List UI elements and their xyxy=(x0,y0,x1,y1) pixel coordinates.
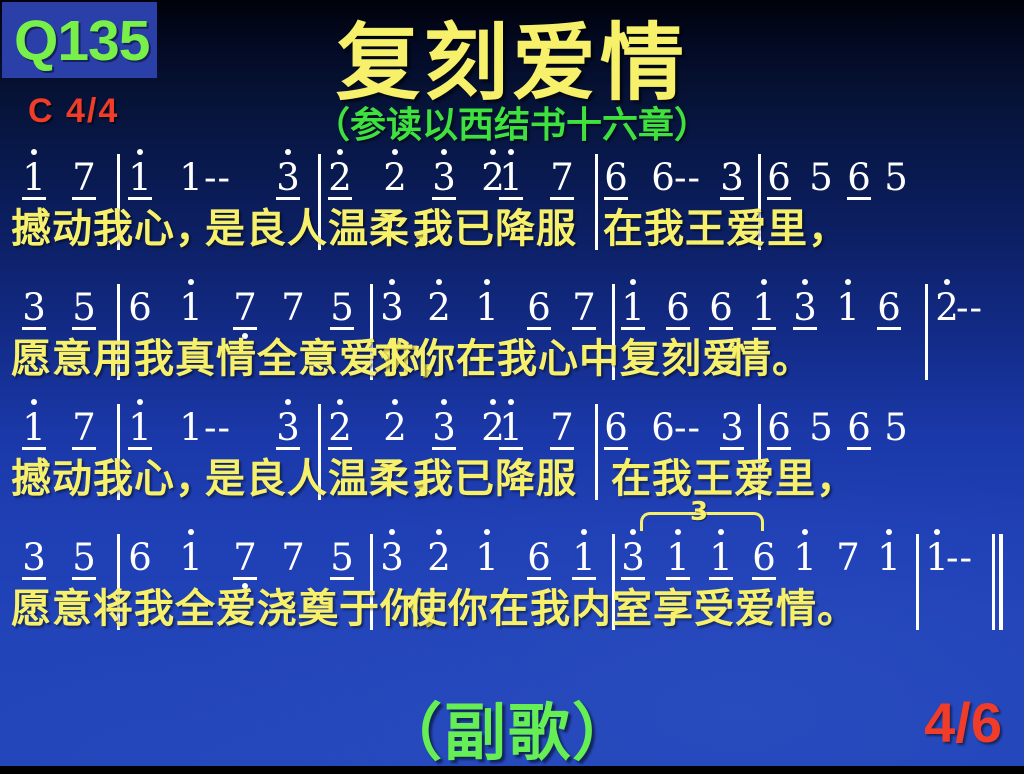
jianpu-note: 1 xyxy=(665,538,691,578)
jianpu-note: 7 xyxy=(549,408,575,448)
jianpu-note: 6 xyxy=(603,158,629,198)
jianpu-note: 5 xyxy=(883,408,909,448)
lyric-row: 愿意用我真情全意爱你,求你在我心中复刻爱情。 xyxy=(0,326,1024,382)
jianpu-note: 6 xyxy=(876,288,902,328)
jianpu-note: 1 xyxy=(751,288,777,328)
jianpu-note: 6 xyxy=(751,538,777,578)
jianpu-note: 7 xyxy=(571,288,597,328)
jianpu-note: 6 xyxy=(526,538,552,578)
jianpu-note: 1 xyxy=(498,408,524,448)
jianpu-note: 5 xyxy=(808,408,834,448)
lyric-segment: 撼动我心， xyxy=(11,446,216,504)
jianpu-note: 7 xyxy=(549,158,575,198)
jianpu-note: 3 xyxy=(379,288,405,328)
jianpu-note: 1 xyxy=(876,538,902,578)
jianpu-note: 6 xyxy=(127,538,153,578)
jianpu-note: 1 xyxy=(474,288,500,328)
note-sustain-dash: -- xyxy=(956,288,983,328)
song-slide: Q135 C 4/4 复刻爱情 （参读以西结书十六章） 1711--322321… xyxy=(0,0,1024,774)
jianpu-note: 2 xyxy=(382,408,408,448)
note-sustain-dash: -- xyxy=(204,158,231,198)
triplet-number: 3 xyxy=(684,497,714,527)
jianpu-note: 7 xyxy=(71,158,97,198)
jianpu-note: 7 xyxy=(280,538,306,578)
jianpu-note: 2 xyxy=(382,158,408,198)
lyric-segment: 情。 xyxy=(731,326,813,384)
note-sustain-dash: -- xyxy=(674,158,701,198)
lyric-row: 撼动我心，是良人温柔，我已降服在我王爱里， xyxy=(0,446,1024,502)
jianpu-note: 5 xyxy=(329,288,355,328)
jianpu-note: 3 xyxy=(431,158,457,198)
jianpu-note: 6 xyxy=(766,158,792,198)
jianpu-note: 3 xyxy=(21,288,47,328)
note-sustain-dash: -- xyxy=(204,408,231,448)
jianpu-note: 6 xyxy=(603,408,629,448)
lyric-segment: 我已降服 xyxy=(413,446,577,504)
jianpu-note: 3 xyxy=(620,538,646,578)
jianpu-note: 5 xyxy=(71,538,97,578)
jianpu-note: 1 xyxy=(474,538,500,578)
jianpu-note: 6 xyxy=(846,408,872,448)
jianpu-note: 1 xyxy=(792,538,818,578)
lyric-segment: 撼动我心， xyxy=(11,196,216,254)
jianpu-note: 1 xyxy=(571,538,597,578)
jianpu-note: 5 xyxy=(808,158,834,198)
jianpu-note: 6 xyxy=(127,288,153,328)
jianpu-note: 2 xyxy=(426,538,452,578)
lyric-segment: 在我王爱里， xyxy=(603,196,849,254)
jianpu-note: 1 xyxy=(620,288,646,328)
lyric-line: 撼动我心，是良人温柔，我已降服在我王爱里， xyxy=(0,196,1024,252)
lyric-segment: 在我王爱里， xyxy=(611,446,857,504)
lyric-line: 撼动我心，是良人温柔，我已降服在我王爱里， xyxy=(0,446,1024,502)
jianpu-note: 3 xyxy=(21,538,47,578)
jianpu-note: 5 xyxy=(71,288,97,328)
jianpu-note: 1 xyxy=(178,158,204,198)
jianpu-note: 7 xyxy=(71,408,97,448)
note-sustain-dash: -- xyxy=(674,408,701,448)
note-sustain-dash: -- xyxy=(946,538,973,578)
lyric-segment: 我已降服 xyxy=(413,196,577,254)
jianpu-note: 3 xyxy=(275,408,301,448)
lyric-line: 愿意用我真情全意爱你,求你在我心中复刻爱情。 xyxy=(0,326,1024,382)
jianpu-note: 6 xyxy=(665,288,691,328)
jianpu-note: 1 xyxy=(498,158,524,198)
jianpu-note: 7 xyxy=(232,288,258,328)
jianpu-note: 1 xyxy=(127,408,153,448)
jianpu-note: 3 xyxy=(719,158,745,198)
jianpu-note: 3 xyxy=(379,538,405,578)
jianpu-note: 6 xyxy=(708,288,734,328)
jianpu-note: 1 xyxy=(178,288,204,328)
jianpu-note: 3 xyxy=(719,408,745,448)
jianpu-note: 1 xyxy=(127,158,153,198)
jianpu-note: 1 xyxy=(178,538,204,578)
lyric-segment: 求你在我心中复刻爱 xyxy=(374,326,743,384)
jianpu-note: 1 xyxy=(21,158,47,198)
bottom-bar xyxy=(0,766,1024,774)
jianpu-note: 6 xyxy=(846,158,872,198)
jianpu-note: 6 xyxy=(650,408,676,448)
lyric-row: 愿意将我全爱浇奠于你，使你在我内室享受爱情。 xyxy=(0,576,1024,632)
jianpu-note: 7 xyxy=(835,538,861,578)
jianpu-note: 1 xyxy=(178,408,204,448)
jianpu-note: 1 xyxy=(708,538,734,578)
jianpu-note: 5 xyxy=(883,158,909,198)
jianpu-note: 6 xyxy=(650,158,676,198)
jianpu-note: 6 xyxy=(526,288,552,328)
jianpu-note: 5 xyxy=(329,538,355,578)
jianpu-note: 2 xyxy=(327,408,353,448)
jianpu-note: 7 xyxy=(232,538,258,578)
lyric-segment: 使你在我内室享受爱情。 xyxy=(407,576,858,634)
page-number: 4/6 xyxy=(924,690,1002,755)
jianpu-note: 6 xyxy=(766,408,792,448)
jianpu-note: 3 xyxy=(275,158,301,198)
jianpu-note: 1 xyxy=(21,408,47,448)
jianpu-note: 2 xyxy=(327,158,353,198)
jianpu-note: 2 xyxy=(426,288,452,328)
jianpu-note: 1 xyxy=(835,288,861,328)
jianpu-note: 3 xyxy=(431,408,457,448)
jianpu-note: 3 xyxy=(792,288,818,328)
lyric-segment: 愿意将我全爱浇奠于你， xyxy=(11,576,462,634)
song-subtitle: （参读以西结书十六章） xyxy=(0,96,1024,148)
lyric-line: 愿意将我全爱浇奠于你，使你在我内室享受爱情。 xyxy=(0,576,1024,632)
lyric-row: 撼动我心，是良人温柔，我已降服在我王爱里， xyxy=(0,196,1024,252)
jianpu-note: 7 xyxy=(280,288,306,328)
chorus-label: （副歌） xyxy=(380,682,636,772)
